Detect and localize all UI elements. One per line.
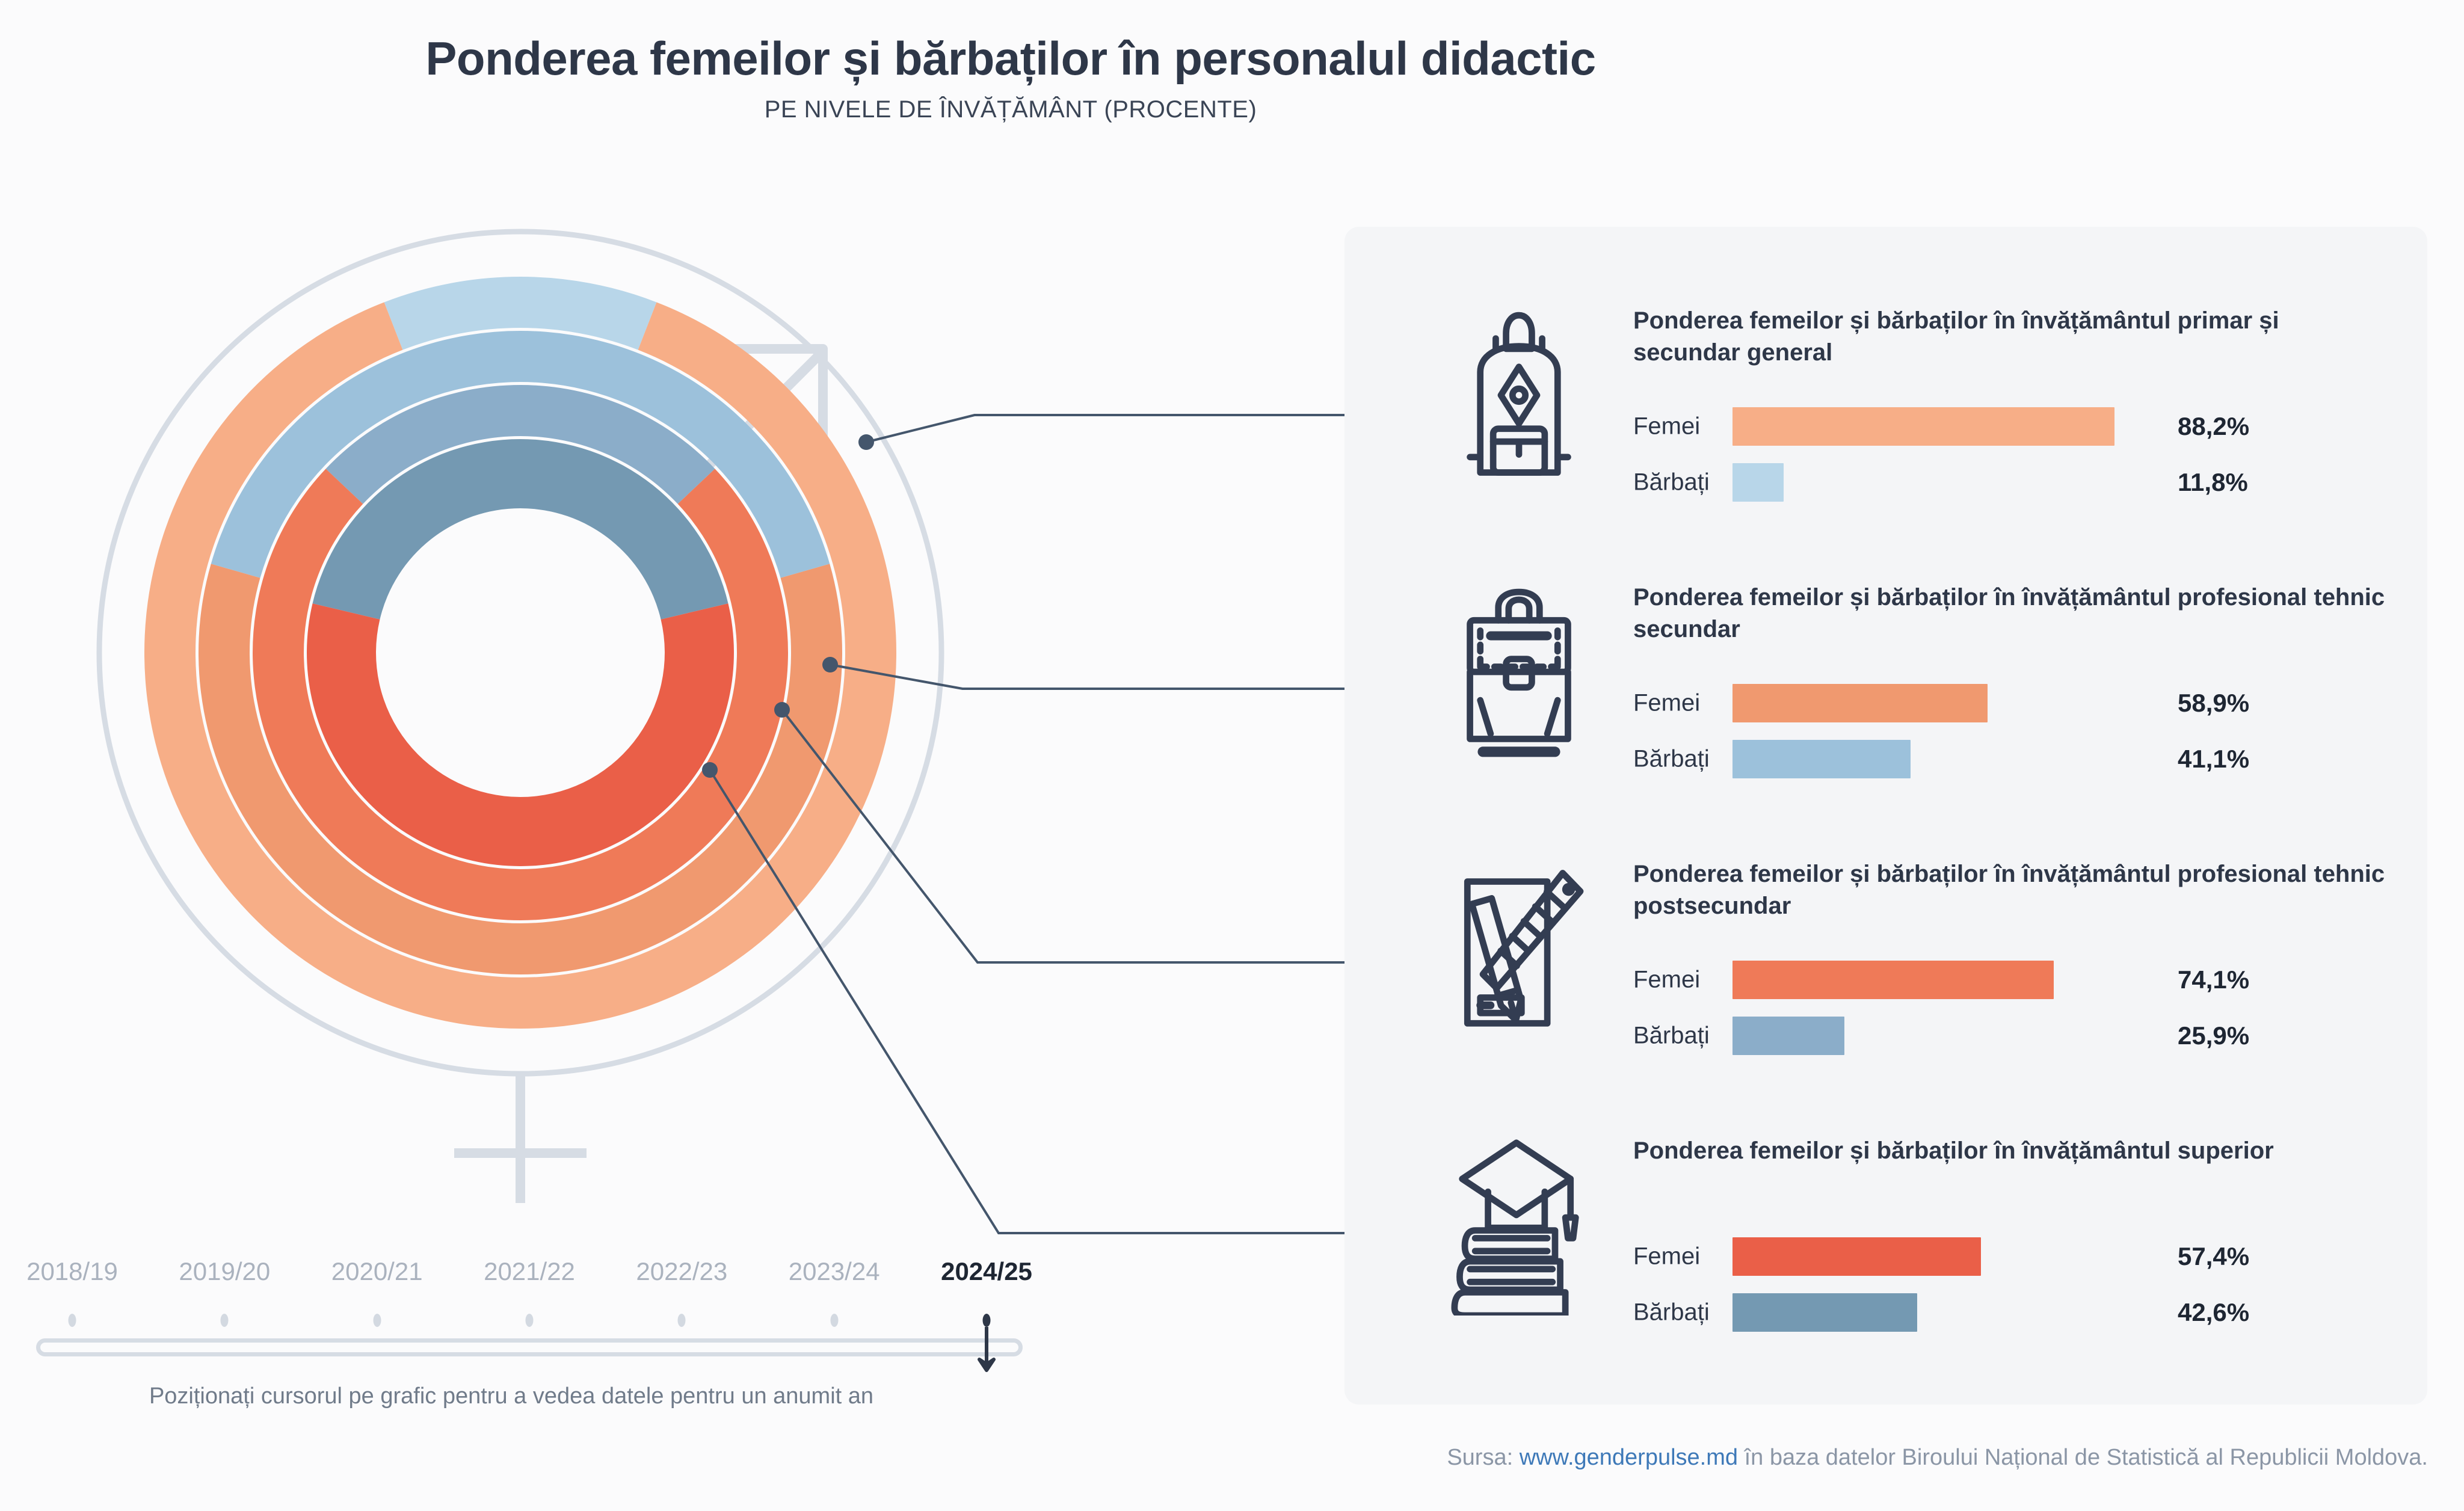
bar-track-male [1732, 1293, 2166, 1332]
timeline-hint: Poziționați cursorul pe grafic pentru a … [0, 1383, 1023, 1409]
year-label-2023-24[interactable]: 2023/24 [789, 1257, 880, 1286]
bar-row-female: Femei 58,9% [1633, 675, 2397, 731]
briefcase-icon [1435, 582, 1603, 762]
level-bars: Femei 74,1% Bărbați 25,9% [1633, 952, 2397, 1063]
bar-value-female: 74,1% [2178, 965, 2249, 994]
bar-fill-female [1732, 1237, 1981, 1276]
donut-rings[interactable] [144, 277, 896, 1029]
year-label-2018-19[interactable]: 2018/19 [26, 1257, 118, 1286]
bar-track-male [1732, 1017, 2166, 1055]
bar-label-male: Bărbați [1633, 1299, 1710, 1326]
bar-fill-male [1732, 1293, 1917, 1332]
level-bars: Femei 57,4% Bărbați 42,6% [1633, 1228, 2397, 1340]
year-dot-2022-23[interactable] [678, 1314, 686, 1327]
bar-fill-male [1732, 463, 1784, 502]
year-timeline[interactable]: 2018/192019/202020/212021/222022/232023/… [36, 1257, 1023, 1359]
bar-value-male: 41,1% [2178, 745, 2249, 774]
bar-fill-female [1732, 684, 1988, 722]
year-label-2019-20[interactable]: 2019/20 [179, 1257, 270, 1286]
slider-thumb-icon [976, 1325, 997, 1373]
bar-label-female: Femei [1633, 966, 1700, 993]
bar-row-female: Femei 57,4% [1633, 1228, 2397, 1284]
bar-row-male: Bărbați 41,1% [1633, 731, 2397, 787]
ruler-pencil-icon [1435, 858, 1603, 1039]
source-link[interactable]: www.genderpulse.md [1520, 1445, 1738, 1470]
bar-fill-male [1732, 740, 1911, 778]
bar-label-female: Femei [1633, 413, 1700, 440]
year-dots[interactable] [36, 1309, 1023, 1329]
source-line: Sursa: www.genderpulse.md în baza datelo… [1447, 1445, 2428, 1471]
donut-chart[interactable] [60, 180, 1035, 1203]
level-heading: Ponderea femeilor și bărbaților în învăț… [1633, 305, 2385, 369]
year-dot-2018-19[interactable] [69, 1314, 76, 1327]
year-labels: 2018/192019/202020/212021/222022/232023/… [36, 1257, 1023, 1296]
levels-panel: Ponderea femeilor și bărbaților în învăț… [1344, 227, 2427, 1405]
bar-value-female: 57,4% [2178, 1242, 2249, 1271]
bar-label-male: Bărbați [1633, 1022, 1710, 1049]
bar-track-female [1732, 1237, 2166, 1276]
bar-label-female: Femei [1633, 1243, 1700, 1270]
level-bars: Femei 58,9% Bărbați 41,1% [1633, 675, 2397, 787]
bar-track-female [1732, 684, 2166, 722]
year-label-2020-21[interactable]: 2020/21 [331, 1257, 423, 1286]
year-dot-2019-20[interactable] [221, 1314, 229, 1327]
year-label-2022-23[interactable]: 2022/23 [636, 1257, 727, 1286]
bar-row-female: Femei 74,1% [1633, 952, 2397, 1008]
bar-value-female: 58,9% [2178, 689, 2249, 718]
year-label-2021-22[interactable]: 2021/22 [484, 1257, 575, 1286]
year-label-2024-25[interactable]: 2024/25 [941, 1257, 1032, 1286]
page-title: Ponderea femeilor și bărbaților în perso… [0, 31, 2021, 86]
graduation-books-icon [1435, 1135, 1603, 1316]
year-dot-2023-24[interactable] [830, 1314, 838, 1327]
level-bars: Femei 88,2% Bărbați 11,8% [1633, 398, 2397, 510]
source-suffix: în baza datelor Biroului Național de Sta… [1738, 1445, 2428, 1470]
bar-label-male: Bărbați [1633, 469, 1710, 496]
page-subtitle: PE NIVELE DE ÎNVĂȚĂMÂNT (PROCENTE) [0, 96, 2021, 123]
slider-rail[interactable] [36, 1338, 1023, 1356]
source-prefix: Sursa: [1447, 1445, 1519, 1470]
bar-track-female [1732, 407, 2166, 446]
bar-fill-female [1732, 407, 2114, 446]
bar-value-male: 11,8% [2178, 468, 2248, 497]
bar-label-female: Femei [1633, 689, 1700, 716]
bar-value-female: 88,2% [2178, 412, 2249, 441]
slider-thumb[interactable] [976, 1325, 997, 1373]
bar-track-male [1732, 740, 2166, 778]
year-dot-2020-21[interactable] [373, 1314, 381, 1327]
bar-value-male: 42,6% [2178, 1298, 2249, 1327]
backpack-icon [1435, 305, 1603, 485]
level-heading: Ponderea femeilor și bărbaților în învăț… [1633, 858, 2385, 922]
bar-value-male: 25,9% [2178, 1021, 2249, 1050]
bar-fill-male [1732, 1017, 1844, 1055]
donut-chart-svg [60, 180, 1035, 1203]
level-heading: Ponderea femeilor și bărbaților în învăț… [1633, 1135, 2385, 1167]
year-slider[interactable] [36, 1335, 1023, 1359]
level-heading: Ponderea femeilor și bărbaților în învăț… [1633, 582, 2385, 645]
bar-track-male [1732, 463, 2166, 502]
year-dot-2021-22[interactable] [526, 1314, 534, 1327]
bar-fill-female [1732, 961, 2054, 999]
bar-track-female [1732, 961, 2166, 999]
bar-row-male: Bărbați 42,6% [1633, 1284, 2397, 1340]
bar-row-male: Bărbați 25,9% [1633, 1008, 2397, 1063]
bar-row-female: Femei 88,2% [1633, 398, 2397, 454]
bar-label-male: Bărbați [1633, 745, 1710, 772]
bar-row-male: Bărbați 11,8% [1633, 454, 2397, 510]
